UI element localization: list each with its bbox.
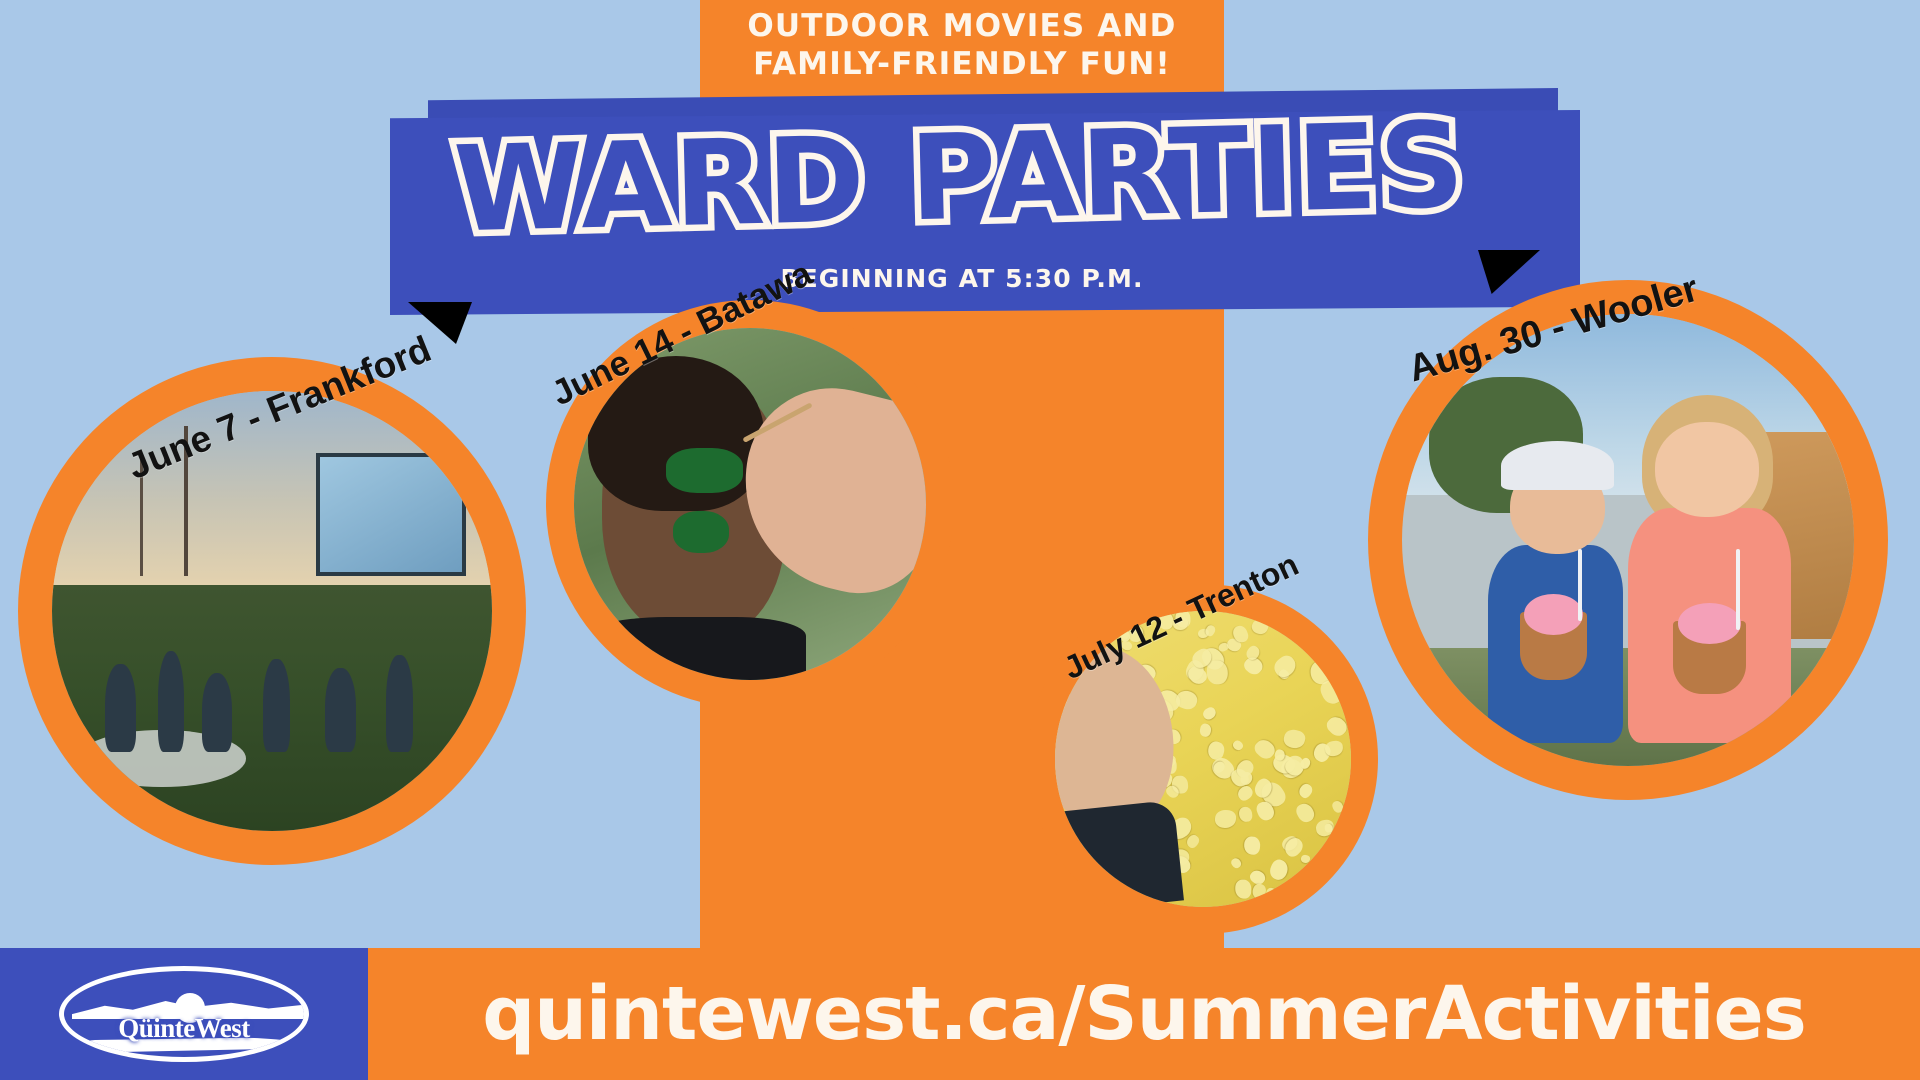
poster-canvas: OUTDOOR MOVIES AND FAMILY-FRIENDLY FUN! … xyxy=(0,0,1920,1080)
ice-cream-scoop-boy xyxy=(1524,594,1583,635)
person-silhouette xyxy=(105,664,136,752)
logo-wordmark: QüinteWest xyxy=(64,1013,304,1044)
popcorn-kernel xyxy=(1324,713,1350,739)
person-silhouette xyxy=(263,659,289,751)
popcorn-kernel xyxy=(1207,660,1228,685)
person-silhouette xyxy=(202,673,233,752)
popcorn-kernel xyxy=(1230,857,1243,870)
girl-head xyxy=(1655,422,1759,517)
popcorn-kernel xyxy=(1277,893,1300,907)
popcorn-kernel xyxy=(1243,836,1260,856)
event-circle-frankford[interactable]: June 7 - Frankford xyxy=(18,357,526,865)
event-circle-trenton[interactable]: July 12 - Trenton xyxy=(1028,584,1378,934)
popcorn-kernel xyxy=(1271,652,1300,680)
footer-bar: QüinteWest quintewest.ca/SummerActivitie… xyxy=(0,948,1920,1080)
popcorn-kernel xyxy=(1068,617,1080,629)
popcorn-kernel xyxy=(1267,857,1291,883)
baseball-cap xyxy=(1501,441,1614,491)
scene-kids-ice-cream xyxy=(1402,314,1854,766)
kicker-line-2: FAMILY-FRIENDLY FUN! xyxy=(700,46,1224,84)
popcorn-kernel xyxy=(1341,620,1351,638)
popcorn-kernel xyxy=(1215,810,1237,829)
face-paint-design-2 xyxy=(673,511,729,553)
logo-panel[interactable]: QüinteWest xyxy=(0,948,368,1080)
popcorn-kernel xyxy=(1340,875,1351,896)
popcorn-kernel xyxy=(1235,880,1251,899)
event-photo-wooler xyxy=(1402,314,1854,766)
person-silhouette xyxy=(325,668,356,752)
spoon-girl xyxy=(1736,549,1740,630)
popcorn-kernel xyxy=(1198,723,1211,738)
popcorn-kernel xyxy=(1297,782,1315,800)
popcorn-kernel xyxy=(1265,888,1278,902)
spoon-boy xyxy=(1578,549,1582,621)
popcorn-kernel xyxy=(1250,618,1270,637)
event-circle-batawa[interactable]: June 14 - Batawa xyxy=(546,300,954,708)
popcorn-kernel xyxy=(1282,727,1306,749)
popcorn-kernel xyxy=(1251,883,1268,901)
popcorn-kernel xyxy=(1325,740,1344,757)
website-url[interactable]: quintewest.ca/SummerActivities xyxy=(368,948,1920,1080)
popcorn-bag xyxy=(1055,800,1184,907)
popcorn-kernel xyxy=(1300,854,1311,864)
quinte-west-logo-icon: QüinteWest xyxy=(59,966,309,1062)
child-shirt xyxy=(574,617,806,680)
popcorn-kernel xyxy=(1185,833,1201,849)
kicker-text: OUTDOOR MOVIES AND FAMILY-FRIENDLY FUN! xyxy=(700,8,1224,84)
event-photo-frankford xyxy=(52,391,492,831)
ice-cream-scoop-girl xyxy=(1678,603,1741,644)
popcorn-kernel xyxy=(1201,705,1218,721)
scene-outdoor-movie-field xyxy=(52,391,492,831)
face-paint-design xyxy=(666,448,743,494)
event-circle-wooler[interactable]: Aug. 30 - Wooler xyxy=(1368,280,1888,800)
person-silhouette xyxy=(386,655,412,752)
kicker-line-1: OUTDOOR MOVIES AND xyxy=(700,8,1224,46)
popcorn-kernel xyxy=(1231,739,1244,752)
movie-screen xyxy=(316,453,466,576)
popcorn-kernel xyxy=(1331,799,1345,814)
popcorn-kernel xyxy=(1294,801,1317,825)
popcorn-kernel xyxy=(1239,806,1254,823)
popcorn-kernel xyxy=(1174,688,1200,712)
person-silhouette xyxy=(158,651,184,752)
